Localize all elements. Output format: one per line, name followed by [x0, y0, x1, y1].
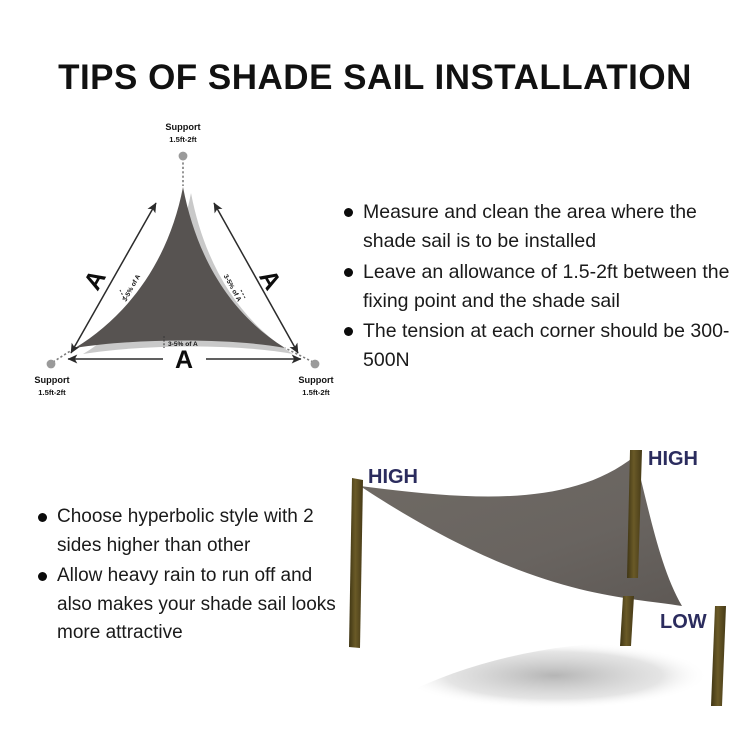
support-label-bottom-right: Support 1.5ft-2ft: [298, 375, 333, 397]
list-item: Measure and clean the area where the sha…: [344, 198, 744, 257]
list-item-text: Choose hyperbolic style with 2 sides hig…: [57, 503, 348, 560]
page-title: TIPS OF SHADE SAIL INSTALLATION: [0, 58, 750, 98]
list-item-text: The tension at each corner should be 300…: [363, 317, 744, 376]
support-label-bottom-right-title: Support: [298, 375, 333, 385]
triangle-diagram-panel: Support 1.5ft-2ft Support 1.5ft-2ft Supp…: [20, 112, 360, 412]
support-label-bottom-left-title: Support: [34, 375, 69, 385]
support-dot-bottom-right: [311, 360, 320, 369]
support-dot-bottom-left: [47, 360, 56, 369]
hyperbolic-diagram-svg: HIGH HIGH LOW: [330, 428, 750, 723]
list-item: Leave an allowance of 1.5-2ft between th…: [344, 258, 744, 317]
tips-list-top-right: Measure and clean the area where the sha…: [344, 198, 744, 377]
post-left-high: [349, 478, 363, 648]
support-label-top-distance: 1.5ft-2ft: [169, 135, 197, 144]
post-low-front: [620, 596, 634, 646]
infographic-page: TIPS OF SHADE SAIL INSTALLATION: [0, 0, 750, 750]
post-rear-right: [711, 606, 726, 706]
bullet-dot-icon: [344, 208, 353, 217]
bullet-dot-icon: [344, 327, 353, 336]
hyperbolic-diagram-panel: HIGH HIGH LOW: [330, 428, 750, 723]
bullet-dot-icon: [344, 268, 353, 277]
support-dot-top: [179, 152, 188, 161]
triangle-diagram-svg: Support 1.5ft-2ft Support 1.5ft-2ft Supp…: [20, 112, 360, 412]
support-label-bottom-left: Support 1.5ft-2ft: [34, 375, 69, 397]
corner-label-right: HIGH: [648, 448, 698, 470]
list-item-text: Allow heavy rain to run off and also mak…: [57, 562, 348, 648]
list-item: Choose hyperbolic style with 2 sides hig…: [38, 503, 348, 560]
tips-list-bottom-left: Choose hyperbolic style with 2 sides hig…: [38, 503, 348, 650]
sag-label-bottom: 3-5% of A: [168, 341, 198, 348]
support-label-bottom-left-distance: 1.5ft-2ft: [38, 388, 66, 397]
bullet-dot-icon: [38, 513, 47, 522]
bullet-dot-icon: [38, 572, 47, 581]
measure-label-right-A: A: [253, 265, 286, 295]
leader-line-bottom-left: [53, 348, 75, 362]
corner-label-left: HIGH: [368, 466, 418, 488]
list-item: The tension at each corner should be 300…: [344, 317, 744, 376]
list-item-text: Measure and clean the area where the sha…: [363, 198, 744, 257]
list-item: Allow heavy rain to run off and also mak…: [38, 562, 348, 648]
support-label-top: Support 1.5ft-2ft: [165, 122, 200, 144]
leader-line-bottom-right: [285, 348, 313, 362]
support-label-top-title: Support: [165, 122, 200, 132]
corner-label-front: LOW: [660, 611, 707, 633]
support-label-bottom-right-distance: 1.5ft-2ft: [302, 388, 330, 397]
list-item-text: Leave an allowance of 1.5-2ft between th…: [363, 258, 744, 317]
ground-shadow: [400, 642, 708, 709]
measure-label-bottom-A: A: [175, 346, 193, 374]
